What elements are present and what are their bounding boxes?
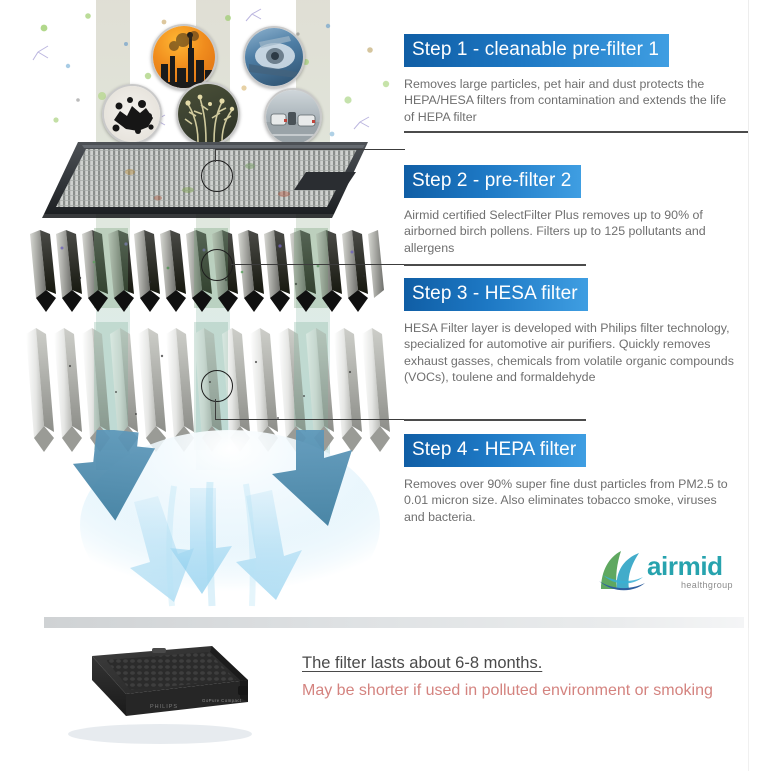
section-divider-band [44,617,744,628]
jet-engine-icon [245,28,303,86]
device-brand-label: PHILIPS [150,704,178,710]
leader-hepa-vertical [215,399,216,420]
separator-after-step-2 [404,264,586,266]
pollutant-circle-factory-smokestack [151,24,217,90]
step-block-2: Step 2 - pre-filter 2 Airmid certified S… [404,165,748,256]
footer-right-rule [748,628,749,771]
soot-particles-icon [104,86,160,142]
right-edge-rule [748,0,749,640]
leader-hepa [215,419,405,420]
leader-pre-filter-1-vertical [215,150,216,162]
leader-hesa [231,264,405,265]
filter-lifespan-text: The filter lasts about 6-8 months. [302,654,542,673]
callout-circle-pre-filter-2 [201,160,233,192]
step-3-title: Step 3 - HESA filter [404,278,588,311]
airflow-svg [40,430,420,630]
step-4-body: Removes over 90% super fine dust particl… [404,476,738,525]
step-1-body: Removes large particles, pet hair and du… [404,76,738,125]
step-1-title: Step 1 - cleanable pre-filter 1 [404,34,669,67]
step-block-3: Step 3 - HESA filter HESA Filter layer i… [404,278,748,386]
footer-section: PHILIPS GoPure Compact The filter lasts … [0,628,771,771]
device-svg: PHILIPS GoPure Compact [52,640,262,745]
pollen-grass-icon [178,84,238,144]
callout-circle-hesa [201,249,233,281]
factory-smokestack-icon [153,26,215,88]
step-4-title: Step 4 - HEPA filter [404,434,586,467]
step-2-body: Airmid certified SelectFilter Plus remov… [404,207,738,256]
road-traffic-icon [266,90,320,144]
airflow-arrows [40,430,420,630]
device-model-label: GoPure Compact [202,698,242,703]
leader-pre-filter-1 [215,149,405,150]
step-block-4: Step 4 - HEPA filter Removes over 90% su… [404,434,748,525]
airmid-wordmark: airmid [647,551,723,582]
step-3-body: HESA Filter layer is developed with Phil… [404,320,738,386]
pollutant-circle-soot-particles [102,84,162,144]
airmid-leaf-icon [597,549,647,595]
separator-after-step-3 [404,419,586,421]
pollutant-circle-pollen-grass [176,82,240,146]
airmid-tagline: healthgroup [681,580,733,590]
separator-after-step-1 [404,131,748,133]
step-2-title: Step 2 - pre-filter 2 [404,165,581,198]
filter-stack-illustration [0,0,420,640]
airmid-logo: airmid healthgroup [597,549,733,597]
philips-filter-device: PHILIPS GoPure Compact [52,640,262,745]
callout-circle-hepa [201,370,233,402]
infographic-canvas: Step 1 - cleanable pre-filter 1 Removes … [0,0,771,771]
pollutant-circle-jet-engine [243,26,305,88]
step-block-1: Step 1 - cleanable pre-filter 1 Removes … [404,34,748,125]
filter-warning-text: May be shorter if used in polluted envir… [302,682,713,700]
